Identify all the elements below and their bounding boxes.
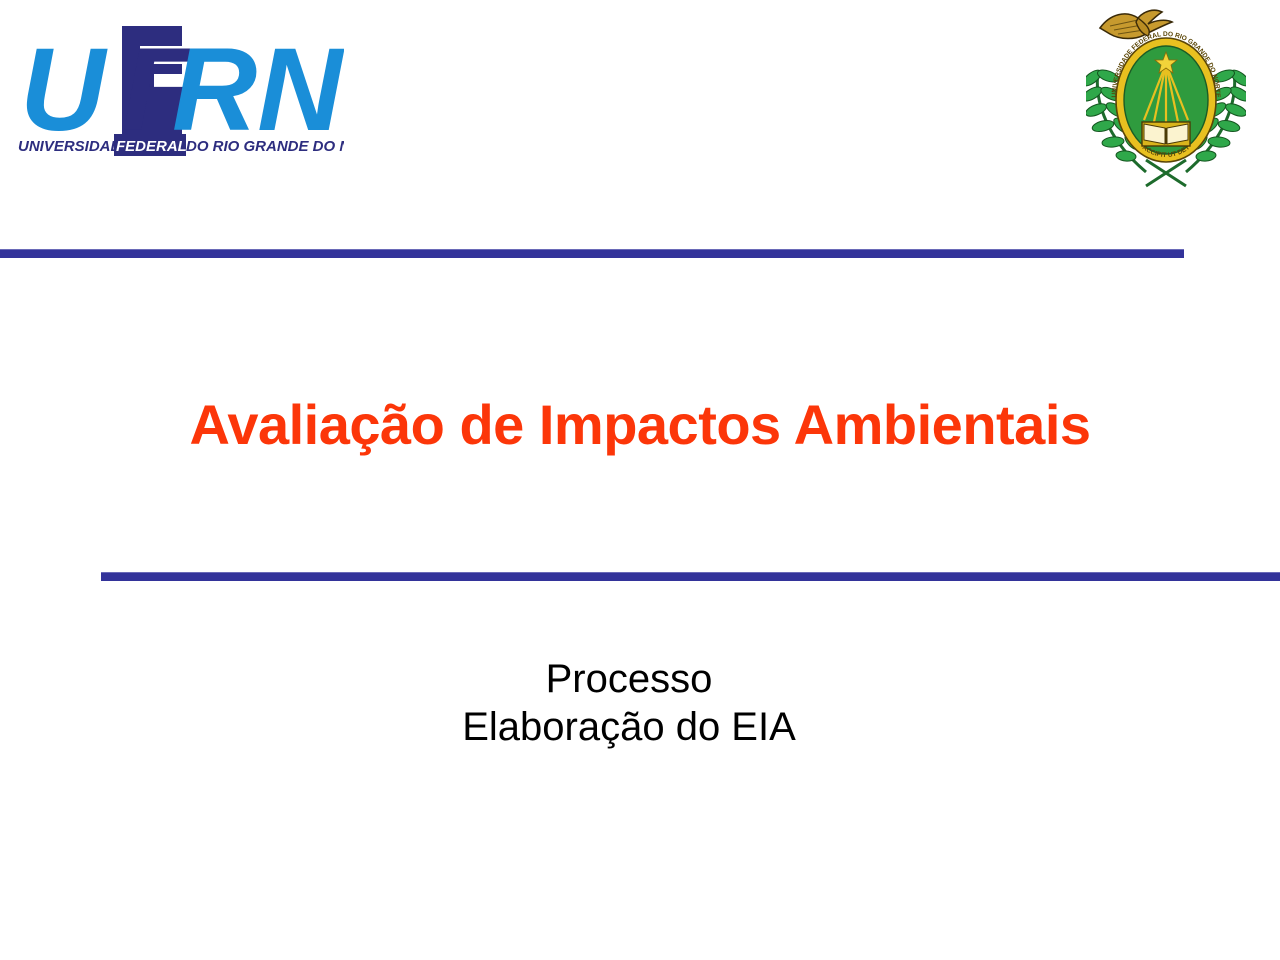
ufrn-wordmark-logo: U F RN UNIVERSIDADE FEDERAL DO RIO GRAND… — [14, 12, 344, 162]
wordmark-letters-rn: RN — [172, 24, 344, 156]
subtitle-block: Processo Elaboração do EIA — [0, 655, 1258, 751]
wordmark-letter-u: U — [20, 24, 108, 156]
slide-canvas: U F RN UNIVERSIDADE FEDERAL DO RIO GRAND… — [0, 0, 1280, 960]
subtitle-line-2: Elaboração do EIA — [0, 703, 1258, 751]
open-book-icon — [1142, 122, 1190, 146]
page-title: Avaliação de Impactos Ambientais — [0, 392, 1280, 457]
divider-top — [0, 249, 1184, 258]
wordmark-tagline-post: DO RIO GRANDE DO NORTE — [186, 138, 344, 155]
wordmark-tagline-highlight: FEDERAL — [116, 138, 187, 155]
ufrn-coat-of-arms: UNIVERSIDADE FEDERAL DO RIO GRANDE DO NO… — [1086, 0, 1246, 190]
divider-middle — [101, 572, 1280, 581]
subtitle-line-1: Processo — [0, 655, 1258, 703]
